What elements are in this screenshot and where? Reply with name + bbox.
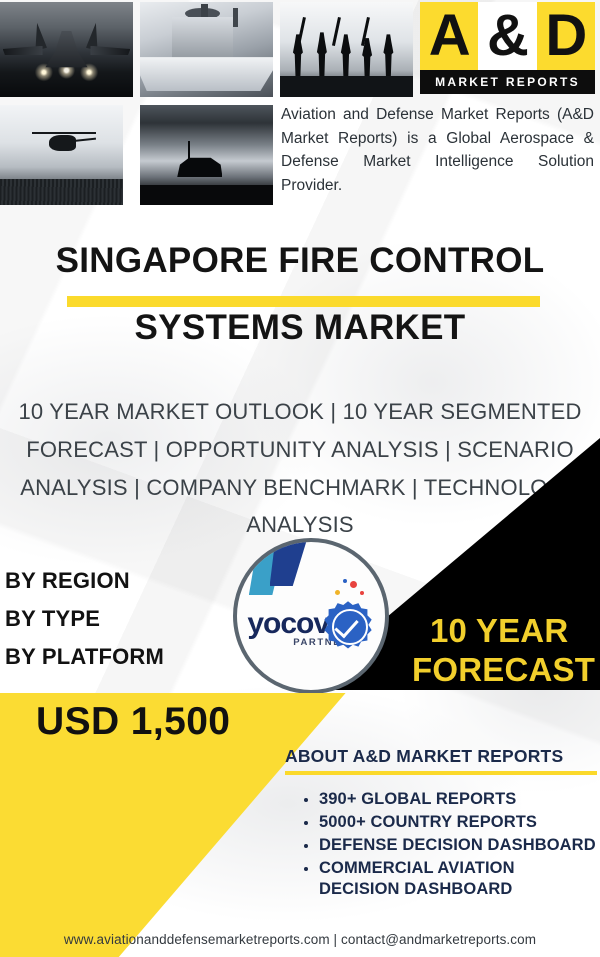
about-section: ABOUT A&D MARKET REPORTS 390+ GLOBAL REP… [285,746,597,903]
company-intro-text: Aviation and Defense Market Reports (A&D… [281,103,594,197]
forecast-line-2: FORECAST [412,651,600,690]
helicopter-rotor-shape [32,132,96,134]
helicopter-field-shape [0,179,123,205]
naval-ship-photo [140,2,273,97]
helicopter-photo [0,105,123,205]
report-scope-subtitle: 10 YEAR MARKET OUTLOOK | 10 YEAR SEGMENT… [18,393,582,544]
segmentation-item-region: BY REGION [5,562,235,600]
segmentation-item-platform: BY PLATFORM [5,638,235,676]
verified-check-icon [324,601,371,648]
logo-letter-row: A & D [420,2,595,70]
logo-subtitle-bar: MARKET REPORTS [420,70,595,94]
page-title-line-2: SYSTEMS MARKET [0,307,600,348]
jet-wing-right-shape [90,46,130,56]
soldier-silhouette-shape [291,34,306,80]
soldier-rifle-shape [332,17,341,46]
soldier-silhouette-shape [339,34,354,80]
segmentation-item-type: BY TYPE [5,600,235,638]
about-heading-underline [285,771,597,775]
about-bullet-global-reports: 390+ GLOBAL REPORTS [319,789,597,810]
title-underline-bar [67,296,540,307]
about-bullet-country-reports: 5000+ COUNTRY REPORTS [319,812,597,833]
jet-wing-left-shape [3,46,43,56]
about-heading: ABOUT A&D MARKET REPORTS [285,746,597,767]
about-bullet-commercial-dashboard: COMMERCIAL AVIATION DECISION DASHBOARD [319,858,597,900]
logo-letter-a: A [420,2,478,70]
forecast-callout: 10 YEAR FORECAST [430,612,600,690]
soldiers-ground-shape [280,76,413,97]
ship-hull-shape [140,57,273,91]
price-value: USD 1,500 [36,700,296,744]
vehicle-ground-shape [140,185,273,205]
yocova-swoosh-navy-shape [270,538,308,586]
armored-vehicle-photo [140,105,273,205]
confetti-dot-blue [343,579,347,583]
logo-letter-d: D [537,2,595,70]
about-bullet-defense-dashboard: DEFENSE DECISION DASHBOARD [319,835,597,856]
page-title-line-1: SINGAPORE FIRE CONTROL [0,240,600,281]
logo-subtitle-text: MARKET REPORTS [435,75,580,89]
ship-secondary-mast-shape [233,8,238,27]
soldiers-silhouette-photo [280,2,413,97]
yocova-partner-badge: yocova PARTNER [233,538,389,694]
helicopter-body-shape [49,135,76,151]
confetti-dot-amber [335,590,340,595]
footer-contact-text: www.aviationanddefensemarketreports.com … [0,932,600,947]
soldier-silhouette-shape [381,34,396,80]
confetti-dot-red-small [360,591,364,595]
about-bullet-list: 390+ GLOBAL REPORTS 5000+ COUNTRY REPORT… [285,789,597,901]
confetti-dot-red [350,581,357,588]
brand-logo: A & D MARKET REPORTS [420,2,595,94]
soldier-silhouette-shape [315,32,330,81]
logo-letter-ampersand: & [478,2,536,70]
fighter-jet-photo [0,2,133,97]
vehicle-antenna-shape [188,141,190,159]
ship-superstructure-shape [172,17,233,63]
report-cover-page: A & D MARKET REPORTS Aviation and Defens… [0,0,600,957]
forecast-line-1: 10 YEAR [430,612,568,649]
vehicle-body-shape [177,157,222,177]
jet-body-shape [37,31,96,73]
segmentation-list: BY REGION BY TYPE BY PLATFORM [5,562,235,675]
